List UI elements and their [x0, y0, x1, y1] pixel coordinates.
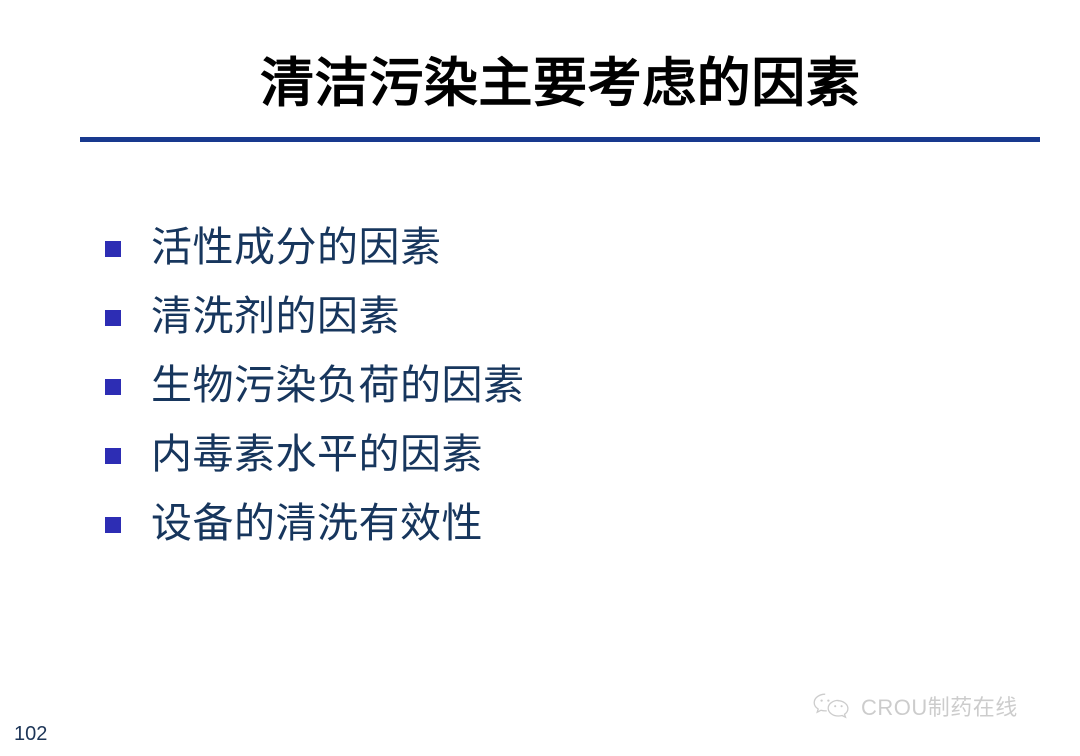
wechat-icon	[812, 691, 852, 721]
title-divider-rule	[80, 137, 1040, 142]
page-title: 清洁污染主要考虑的因素	[260, 55, 860, 112]
list-item: 设备的清洗有效性	[105, 476, 965, 544]
slide-title-block: 清洁污染主要考虑的因素	[80, 44, 1040, 124]
list-item-label: 设备的清洗有效性	[151, 503, 483, 544]
page-number: 102	[14, 724, 47, 744]
watermark-label: CROU制药在线	[861, 690, 1018, 722]
square-bullet-icon	[105, 241, 121, 257]
list-item-label: 活性成分的因素	[151, 227, 442, 268]
watermark: CROU制药在线	[812, 690, 1018, 722]
square-bullet-icon	[105, 517, 121, 533]
square-bullet-icon	[105, 310, 121, 326]
list-item: 活性成分的因素	[105, 200, 965, 268]
list-item-label: 生物污染负荷的因素	[151, 365, 525, 406]
list-item-label: 清洗剂的因素	[151, 296, 400, 337]
presentation-slide: 清洁污染主要考虑的因素 活性成分的因素 清洗剂的因素 生物污染负荷的因素 内毒素…	[0, 0, 1080, 756]
bullet-list: 活性成分的因素 清洗剂的因素 生物污染负荷的因素 内毒素水平的因素 设备的清洗有…	[105, 200, 965, 545]
list-item: 生物污染负荷的因素	[105, 338, 965, 406]
square-bullet-icon	[105, 448, 121, 464]
square-bullet-icon	[105, 379, 121, 395]
list-item: 内毒素水平的因素	[105, 407, 965, 475]
list-item: 清洗剂的因素	[105, 269, 965, 337]
list-item-label: 内毒素水平的因素	[151, 434, 483, 475]
